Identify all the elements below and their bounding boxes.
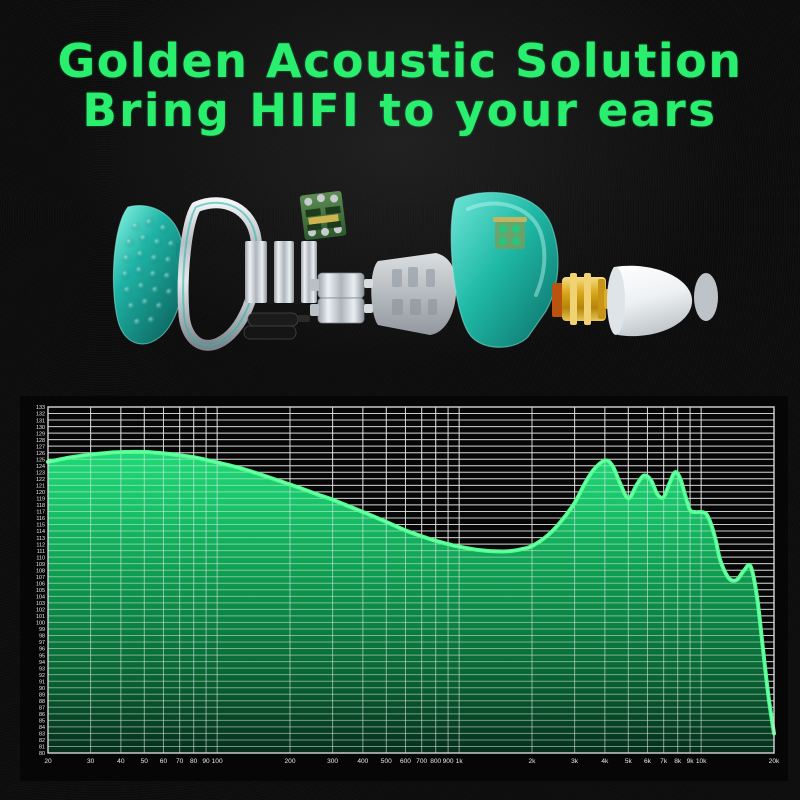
y-axis-tick-label: 104 xyxy=(36,595,45,601)
y-axis-tick-label: 95 xyxy=(39,653,45,659)
y-axis-tick-label: 93 xyxy=(39,666,45,672)
part-shell-body-teal xyxy=(451,192,558,347)
part-white-eartip xyxy=(607,266,718,336)
x-axis-tick-label: 6k xyxy=(644,758,652,765)
y-axis-tick-label: 110 xyxy=(36,555,45,561)
y-axis-tick-label: 92 xyxy=(39,673,45,679)
part-inner-frame-clear xyxy=(371,253,456,335)
x-axis-tick-label: 10k xyxy=(696,758,707,765)
y-axis-tick-label: 128 xyxy=(36,438,45,444)
y-axis-tick-label: 118 xyxy=(36,503,45,509)
headline-line-1: Golden Acoustic Solution xyxy=(0,36,800,86)
y-axis-tick-label: 119 xyxy=(36,497,45,503)
x-axis-tick-label: 70 xyxy=(176,758,184,765)
y-axis-tick-label: 97 xyxy=(39,640,45,646)
y-axis-tick-label: 82 xyxy=(39,738,45,744)
frequency-response-chart: 8081828384858687888990919293949596979899… xyxy=(20,396,788,781)
part-balanced-armature-stack xyxy=(245,238,317,304)
y-axis-tick-label: 105 xyxy=(36,588,45,594)
y-axis-tick-label: 102 xyxy=(36,608,45,614)
y-axis-tick-label: 124 xyxy=(36,464,45,470)
x-axis-tick-label: 40 xyxy=(117,758,125,765)
headline-block: Golden Acoustic Solution Bring HIFI to y… xyxy=(0,36,800,136)
y-axis-tick-label: 103 xyxy=(36,601,45,607)
x-axis-tick-label: 90 xyxy=(202,758,210,765)
y-axis-tick-label: 90 xyxy=(39,686,45,692)
x-axis-tick-label: 20k xyxy=(769,758,780,765)
x-axis-tick-label: 600 xyxy=(400,758,411,765)
y-axis-tick-label: 86 xyxy=(39,712,45,718)
y-axis-tick-label: 100 xyxy=(36,621,45,627)
x-axis-tick-label: 7k xyxy=(660,758,668,765)
headline-line-2: Bring HIFI to your ears xyxy=(0,86,800,136)
part-black-damper-pair xyxy=(244,313,310,339)
x-axis-tick-label: 8k xyxy=(674,758,682,765)
y-axis-tick-label: 113 xyxy=(36,536,45,542)
x-axis-tick-label: 60 xyxy=(160,758,168,765)
x-axis-tick-label: 200 xyxy=(284,758,295,765)
part-faceplate-teal-textured xyxy=(113,206,186,344)
x-axis-tick-label: 1k xyxy=(456,758,464,765)
y-axis-tick-label: 115 xyxy=(36,523,45,529)
x-axis-tick-label: 50 xyxy=(141,758,149,765)
y-axis-tick-label: 131 xyxy=(36,418,45,424)
x-axis-tick-label: 100 xyxy=(212,758,223,765)
x-axis-tick-label: 5k xyxy=(625,758,633,765)
x-axis-tick-label: 900 xyxy=(443,758,454,765)
y-axis-tick-label: 125 xyxy=(36,457,45,463)
y-axis-tick-label: 81 xyxy=(39,745,45,751)
y-axis-tick-label: 80 xyxy=(39,751,45,757)
y-axis-tick-label: 98 xyxy=(39,634,45,640)
y-axis-tick-label: 109 xyxy=(36,562,45,568)
y-axis-tick-label: 89 xyxy=(39,692,45,698)
y-axis-tick-label: 132 xyxy=(36,412,45,418)
y-axis-tick-label: 111 xyxy=(37,549,45,555)
y-axis-tick-label: 114 xyxy=(36,529,45,535)
y-axis-tick-label: 123 xyxy=(36,470,45,476)
x-axis-tick-label: 4k xyxy=(601,758,609,765)
product-exploded-view xyxy=(0,165,800,375)
y-axis-tick-label: 116 xyxy=(36,516,45,522)
part-crossover-pcb xyxy=(299,191,346,241)
x-axis-tick-label: 2k xyxy=(529,758,537,765)
y-axis-tick-label: 130 xyxy=(36,425,45,431)
y-axis-tick-label: 107 xyxy=(36,575,45,581)
promo-page: Golden Acoustic Solution Bring HIFI to y… xyxy=(0,0,800,800)
x-axis-tick-label: 300 xyxy=(327,758,338,765)
y-axis-tick-label: 84 xyxy=(39,725,45,731)
part-dual-driver-module xyxy=(310,273,373,323)
x-axis-tick-label: 9k xyxy=(687,758,695,765)
y-axis-tick-label: 120 xyxy=(36,490,45,496)
y-axis-tick-label: 91 xyxy=(39,679,45,685)
y-axis-tick-label: 121 xyxy=(36,484,45,490)
x-axis-tick-label: 500 xyxy=(381,758,392,765)
y-axis-tick-label: 96 xyxy=(39,647,45,653)
y-axis-tick-label: 85 xyxy=(39,719,45,725)
x-axis-tick-label: 80 xyxy=(190,758,198,765)
y-axis-tick-label: 127 xyxy=(36,444,45,450)
y-axis-tick-label: 117 xyxy=(36,510,45,516)
y-axis-tick-label: 108 xyxy=(36,568,45,574)
x-axis-tick-label: 700 xyxy=(416,758,427,765)
product-svg xyxy=(0,165,800,375)
x-axis-tick-label: 30 xyxy=(87,758,95,765)
y-axis-tick-label: 126 xyxy=(36,451,45,457)
x-axis-tick-label: 20 xyxy=(44,758,52,765)
y-axis-tick-label: 99 xyxy=(39,627,45,633)
y-axis-tick-label: 87 xyxy=(39,706,45,712)
x-axis-tick-label: 400 xyxy=(357,758,368,765)
y-axis-tick-label: 106 xyxy=(36,581,45,587)
y-axis-tick-label: 83 xyxy=(39,732,45,738)
y-axis-tick-label: 94 xyxy=(39,660,45,666)
y-axis-tick-label: 101 xyxy=(36,614,45,620)
y-axis-tick-label: 112 xyxy=(36,542,45,548)
y-axis-tick-label: 88 xyxy=(39,699,45,705)
frequency-response-svg: 8081828384858687888990919293949596979899… xyxy=(20,396,788,781)
y-axis-tick-label: 133 xyxy=(36,405,45,411)
y-axis-tick-label: 122 xyxy=(36,477,45,483)
x-axis-tick-label: 800 xyxy=(430,758,441,765)
y-axis-tick-label: 129 xyxy=(36,431,45,437)
x-axis-tick-label: 3k xyxy=(571,758,579,765)
